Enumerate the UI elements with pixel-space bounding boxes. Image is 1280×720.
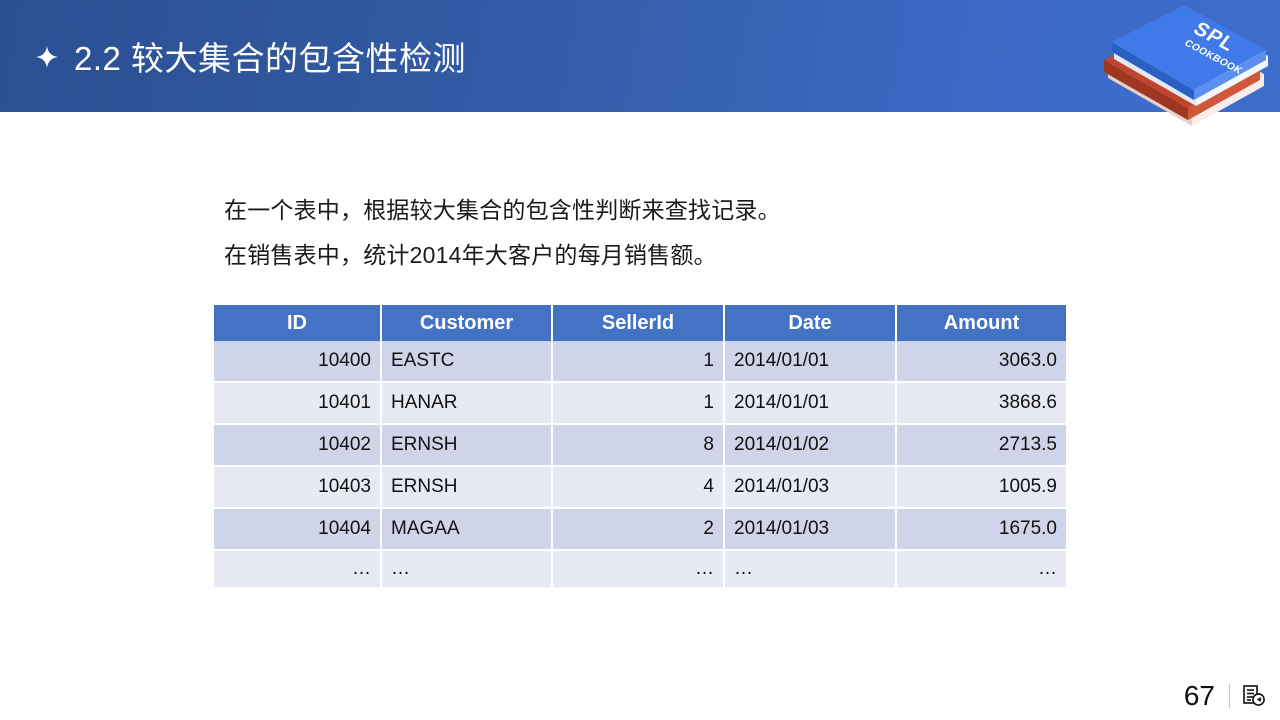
cell-amount: 2713.5 [897, 425, 1066, 467]
cell-id: 10402 [214, 425, 382, 467]
spl-cookbook-book-stack-icon: SPL COOKBOOK [1088, 0, 1274, 128]
table-row: 10400 EASTC 1 2014/01/01 3063.0 [214, 341, 1066, 383]
cell-customer: EASTC [382, 341, 553, 383]
footer-divider [1229, 684, 1230, 708]
table-row: … … … … … [214, 551, 1066, 587]
document-back-arrow-icon[interactable] [1242, 684, 1266, 708]
cell-id: … [214, 551, 382, 587]
column-header-date[interactable]: Date [725, 305, 897, 341]
cell-amount: 1005.9 [897, 467, 1066, 509]
slide-title-row: 2.2 较大集合的包含性检测 [36, 26, 466, 86]
four-point-star-icon [36, 46, 58, 68]
cell-amount: 3868.6 [897, 383, 1066, 425]
page-title: 2.2 较大集合的包含性检测 [74, 32, 466, 80]
column-header-id[interactable]: ID [214, 305, 382, 341]
body-line-1: 在一个表中，根据较大集合的包含性判断来查找记录。 [224, 188, 1124, 233]
cell-date: 2014/01/03 [725, 467, 897, 509]
body-line-2: 在销售表中，统计2014年大客户的每月销售额。 [224, 233, 1124, 278]
body-copy: 在一个表中，根据较大集合的包含性判断来查找记录。 在销售表中，统计2014年大客… [224, 188, 1124, 278]
table-row: 10402 ERNSH 8 2014/01/02 2713.5 [214, 425, 1066, 467]
column-header-amount[interactable]: Amount [897, 305, 1066, 341]
cell-amount: 3063.0 [897, 341, 1066, 383]
cell-sellerid: 8 [553, 425, 725, 467]
cell-amount: … [897, 551, 1066, 587]
logo-title-text: SPL [1189, 18, 1240, 56]
column-header-sellerid[interactable]: SellerId [553, 305, 725, 341]
cell-date: 2014/01/01 [725, 383, 897, 425]
table-row: 10403 ERNSH 4 2014/01/03 1005.9 [214, 467, 1066, 509]
cell-customer: MAGAA [382, 509, 553, 551]
cell-sellerid: 1 [553, 341, 725, 383]
sales-data-table: ID Customer SellerId Date Amount 10400 E… [214, 305, 1066, 587]
cell-sellerid: … [553, 551, 725, 587]
cell-id: 10401 [214, 383, 382, 425]
cell-id: 10403 [214, 467, 382, 509]
cell-date: 2014/01/03 [725, 509, 897, 551]
cell-customer: ERNSH [382, 425, 553, 467]
cell-date: … [725, 551, 897, 587]
cell-sellerid: 2 [553, 509, 725, 551]
cell-amount: 1675.0 [897, 509, 1066, 551]
cell-customer: ERNSH [382, 467, 553, 509]
table-header-row: ID Customer SellerId Date Amount [214, 305, 1066, 341]
slide-header: 2.2 较大集合的包含性检测 SPL [0, 0, 1280, 112]
cell-customer: HANAR [382, 383, 553, 425]
logo-subtitle-text: COOKBOOK [1182, 38, 1245, 77]
page-number: 67 [1184, 682, 1215, 710]
cell-id: 10400 [214, 341, 382, 383]
cell-date: 2014/01/01 [725, 341, 897, 383]
cell-date: 2014/01/02 [725, 425, 897, 467]
cell-customer: … [382, 551, 553, 587]
cell-sellerid: 4 [553, 467, 725, 509]
cell-sellerid: 1 [553, 383, 725, 425]
slide-footer: 67 [1184, 674, 1266, 718]
cell-id: 10404 [214, 509, 382, 551]
table-row: 10404 MAGAA 2 2014/01/03 1675.0 [214, 509, 1066, 551]
table-row: 10401 HANAR 1 2014/01/01 3868.6 [214, 383, 1066, 425]
column-header-customer[interactable]: Customer [382, 305, 553, 341]
